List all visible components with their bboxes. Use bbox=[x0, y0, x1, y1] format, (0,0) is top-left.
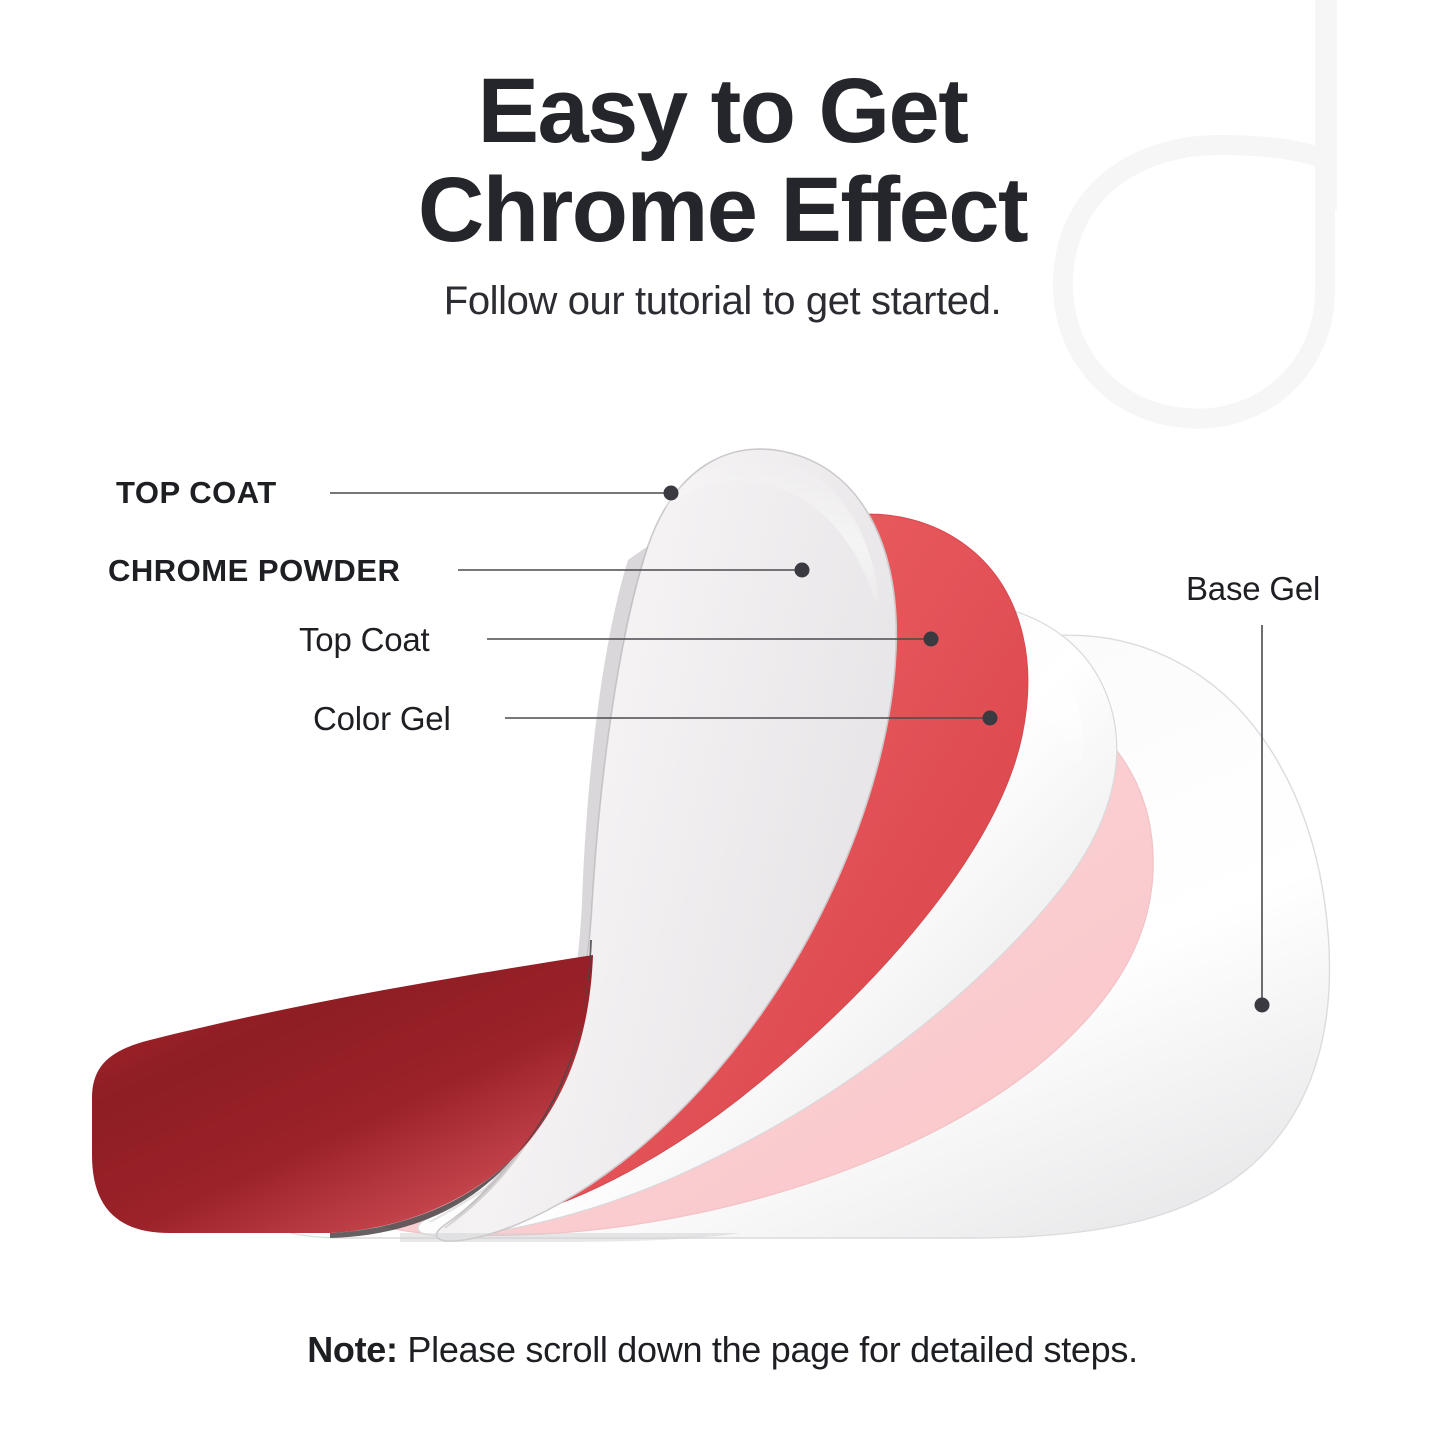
callout-label-top-coat-inner: Top Coat bbox=[299, 621, 429, 659]
callout-label-base-gel: Base Gel bbox=[1186, 570, 1320, 608]
callout-label-chrome-powder: CHROME POWDER bbox=[108, 553, 400, 589]
footer-note-prefix: Note: bbox=[307, 1329, 398, 1370]
dot-top-coat-bold bbox=[664, 486, 679, 501]
dot-color-gel bbox=[983, 711, 998, 726]
callout-label-color-gel: Color Gel bbox=[313, 700, 451, 738]
dot-base-gel bbox=[1255, 998, 1270, 1013]
promo-banner: Easy to Get Chrome Effect Follow our tut… bbox=[0, 0, 1445, 1445]
dot-chrome-powder bbox=[795, 563, 810, 578]
nail-layers-illustration bbox=[0, 0, 1445, 1445]
dot-top-coat bbox=[924, 632, 939, 647]
footer-note-text: Please scroll down the page for detailed… bbox=[398, 1329, 1138, 1370]
callout-label-top-coat-outer: TOP COAT bbox=[116, 475, 277, 511]
footer-note: Note: Please scroll down the page for de… bbox=[0, 1329, 1445, 1371]
